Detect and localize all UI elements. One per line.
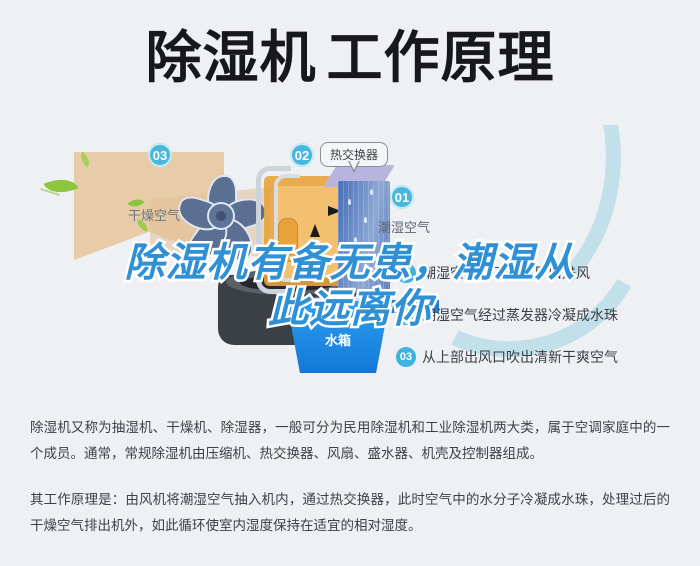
list-item: 03 从上部出风口吹出清新干爽空气	[396, 336, 700, 378]
water-droplet-icon	[364, 217, 367, 223]
paragraph-principle: 其工作原理是：由风机将潮湿空气抽入机内，通过热交换器，此时空气中的水分子冷凝成水…	[30, 487, 670, 539]
heat-exchanger-fins	[338, 181, 390, 293]
list-item: 02 潮湿空气经过蒸发器冷凝成水珠	[396, 294, 700, 336]
heat-exchanger-callout-tail	[348, 161, 360, 173]
fan-icon	[176, 171, 262, 257]
step-badge-03: 03	[396, 347, 416, 367]
step-badge-02: 02	[396, 305, 416, 325]
list-item: 01 潮湿空气从下部进风口进风	[396, 252, 700, 294]
step-text-01: 潮湿空气从下部进风口进风	[422, 263, 590, 283]
diagram-badge-02: 02	[290, 143, 314, 167]
step-list: 01 潮湿空气从下部进风口进风 02 潮湿空气经过蒸发器冷凝成水珠 03 从上部…	[396, 252, 700, 378]
fan-hub-center	[216, 211, 226, 221]
page-title-part2: 工作原理	[327, 28, 555, 90]
water-droplet-icon	[344, 265, 347, 271]
dry-air-label: 干燥空气	[128, 205, 180, 224]
diagram-badge-03: 03	[148, 143, 172, 167]
step-text-03: 从上部出风口吹出清新干爽空气	[422, 347, 618, 367]
step-text-02: 潮湿空气经过蒸发器冷凝成水珠	[422, 305, 618, 325]
infographic-page: 除湿机工作原理	[0, 0, 700, 566]
humid-air-label: 潮湿空气	[378, 217, 430, 236]
diagram-badge-01: 01	[390, 185, 414, 209]
water-droplet-icon	[354, 237, 357, 243]
step-badge-01: 01	[396, 263, 416, 283]
paragraph-definition: 除湿机又称为抽湿机、干燥机、除湿器，一般可分为民用除湿机和工业除湿机两大类，属于…	[30, 415, 670, 467]
compressor-cylinder	[278, 218, 298, 262]
page-title-part1: 除湿机	[146, 28, 317, 90]
flow-arrow-up-icon	[310, 224, 320, 237]
water-droplet-icon	[370, 189, 373, 195]
water-droplet-icon	[374, 255, 377, 261]
page-title: 除湿机工作原理	[0, 28, 700, 90]
water-droplet-icon	[348, 199, 351, 205]
body-copy: 除湿机又称为抽湿机、干燥机、除湿器，一般可分为民用除湿机和工业除湿机两大类，属于…	[0, 415, 700, 539]
water-tank-label: 水箱	[282, 330, 394, 349]
fan-hub	[207, 202, 235, 230]
leaf-icon	[44, 172, 79, 201]
